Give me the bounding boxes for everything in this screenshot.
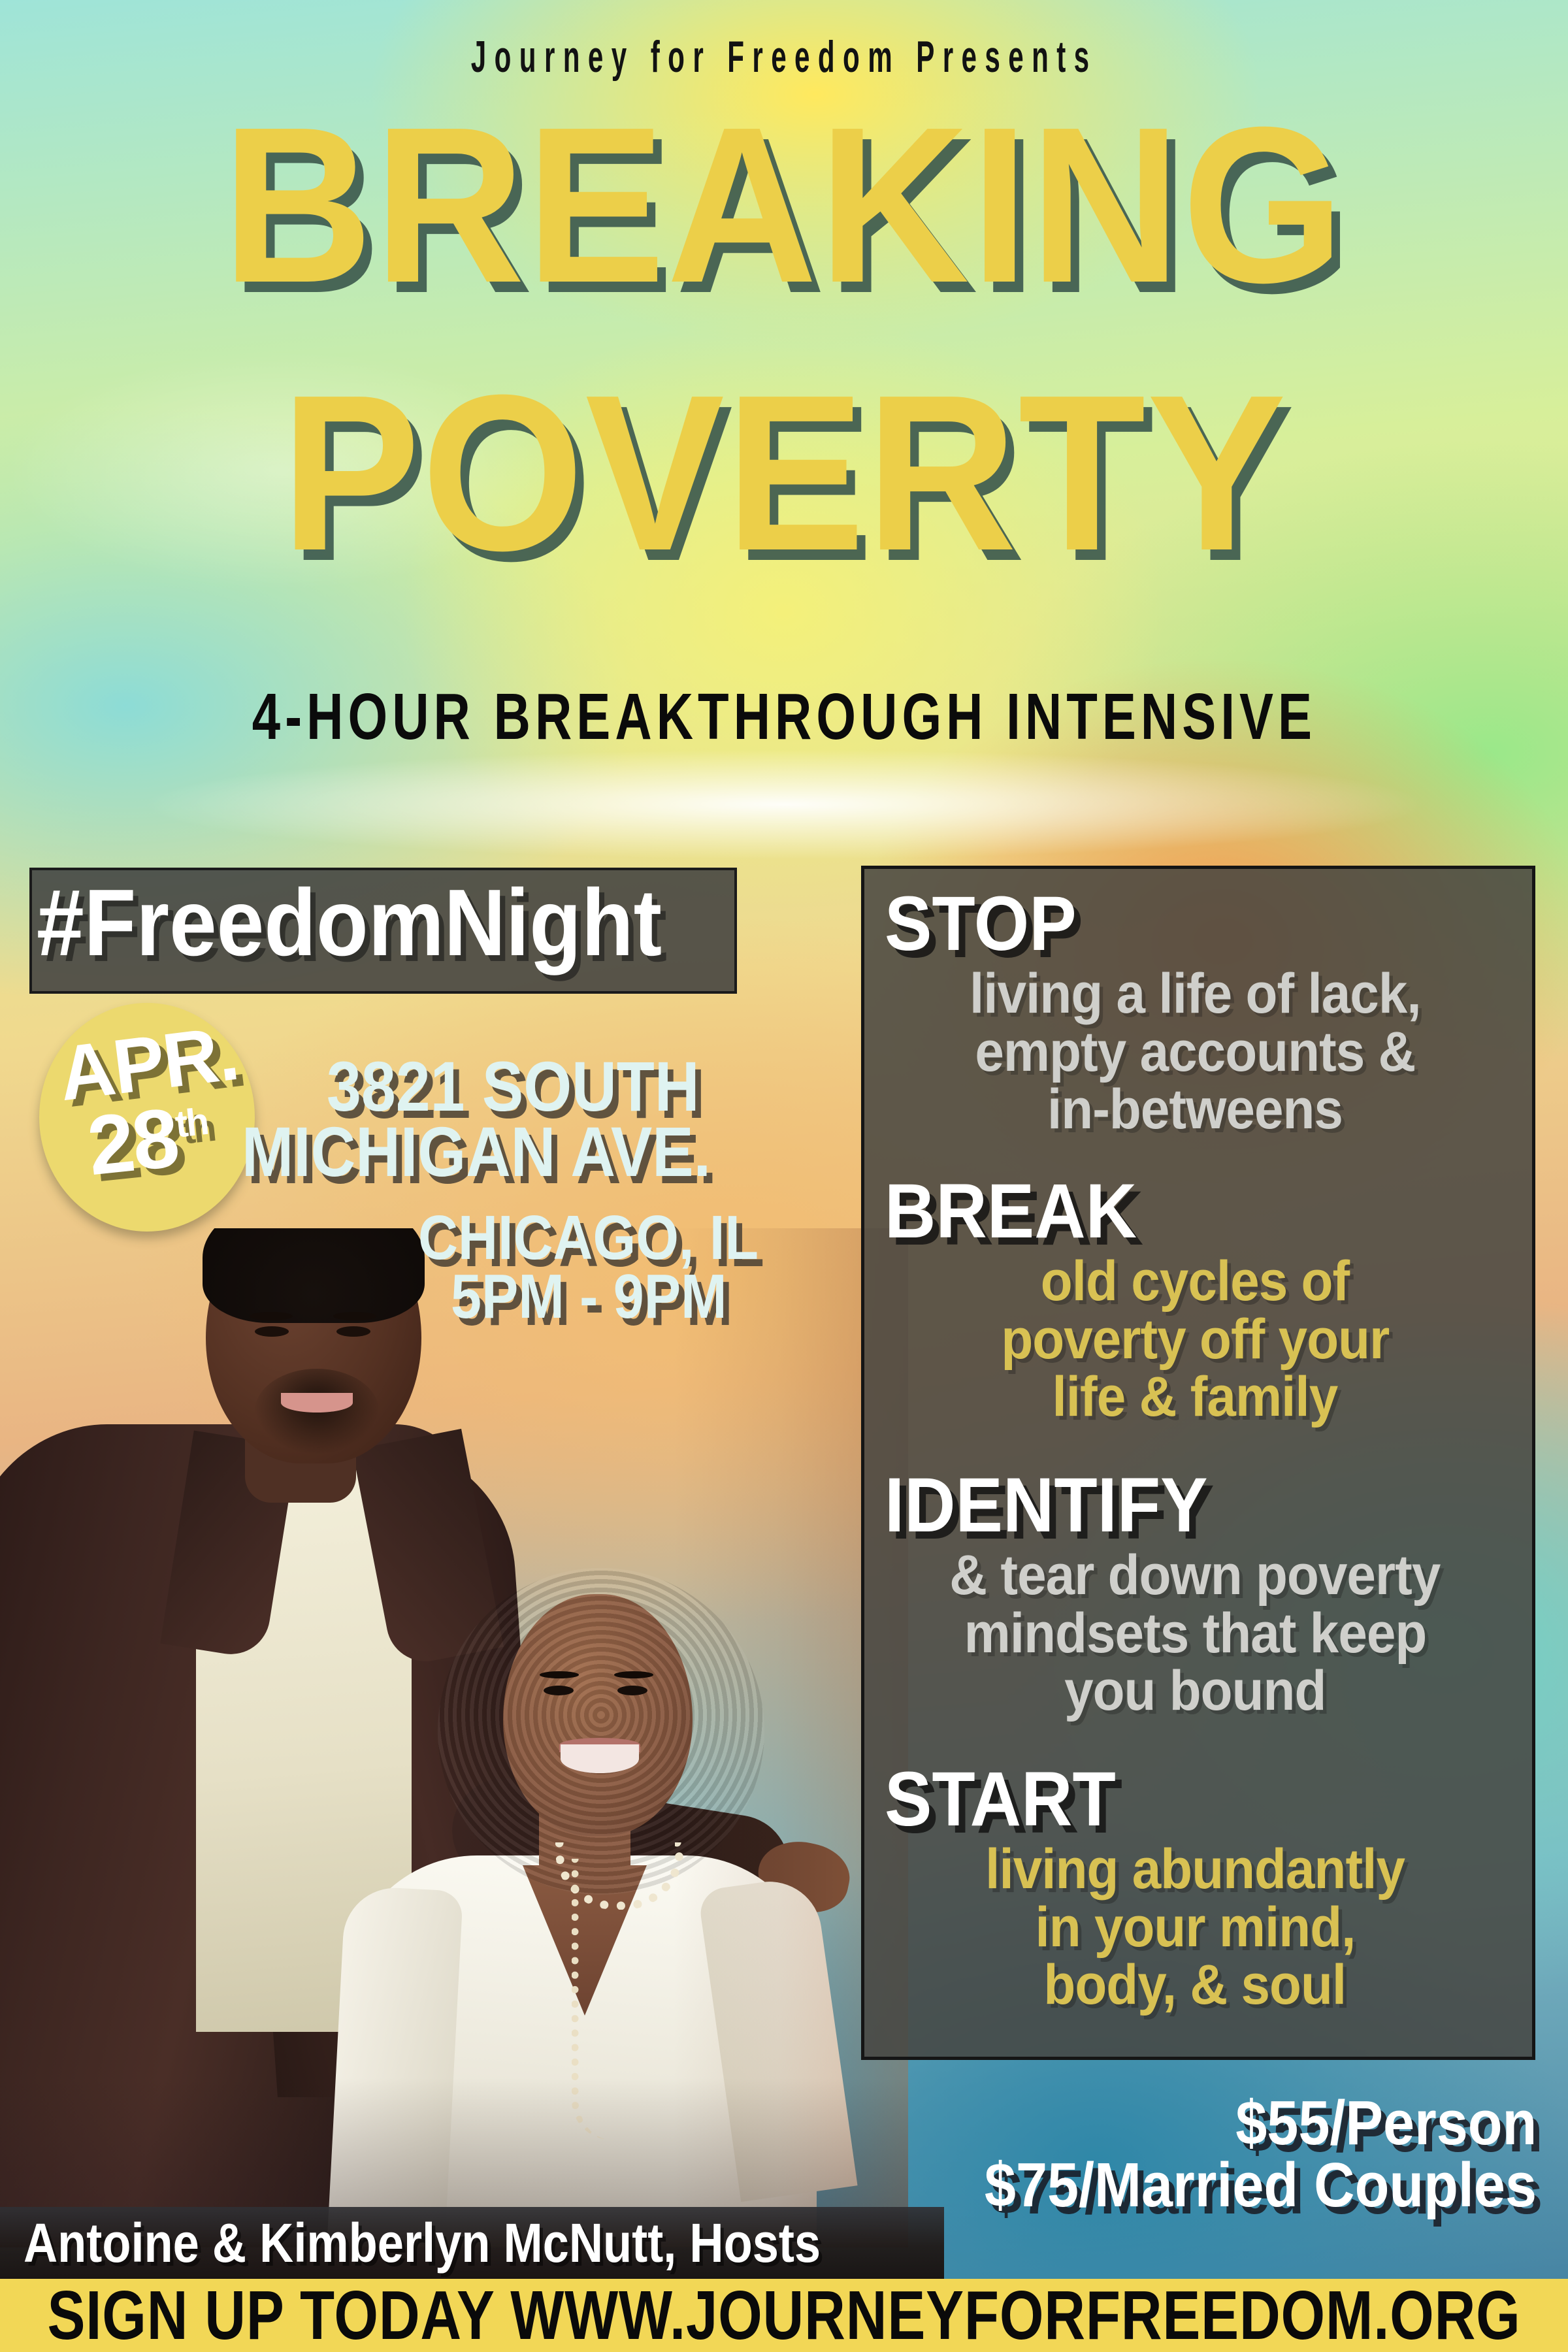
section-start-body-line-1: living abundantly (985, 1840, 1405, 1899)
section-start-heading-text: START (885, 1761, 1116, 1838)
section-identify-heading-text: IDENTIFY (885, 1467, 1208, 1544)
section-break-heading-text: BREAK (885, 1173, 1137, 1250)
section-stop-heading-text: STOP (885, 885, 1077, 962)
section-identify: IDENTIFY & tear down poverty mindsets th… (861, 1467, 1529, 1720)
section-break-heading: BREAK (861, 1173, 1529, 1250)
section-break: BREAK old cycles of poverty off your lif… (861, 1173, 1529, 1426)
price-individual-text: $55/Person (1235, 2087, 1537, 2159)
section-identify-body-line-1: & tear down poverty (949, 1546, 1440, 1605)
date-day-text: 28 (83, 1091, 182, 1193)
section-identify-body-line-2: mindsets that keep (964, 1605, 1426, 1663)
title-line-2-text: POVERTY (281, 382, 1287, 564)
event-time: 5PM - 9PM (451, 1261, 764, 1333)
section-break-body-line-1: old cycles of (1041, 1252, 1349, 1311)
section-stop-body: living a life of lack, empty accounts & … (861, 962, 1529, 1139)
price-individual: $55/Person (1202, 2087, 1537, 2159)
title-line-1: BREAKING (0, 114, 1568, 297)
event-time-text: 5PM - 9PM (451, 1261, 727, 1333)
event-flyer: Journey for Freedom Presents BREAKING PO… (0, 0, 1568, 2352)
section-identify-heading: IDENTIFY (861, 1467, 1529, 1544)
section-stop: STOP living a life of lack, empty accoun… (861, 885, 1529, 1139)
subtitle-text: 4-HOUR BREAKTHROUGH INTENSIVE (252, 679, 1316, 755)
section-start-heading: START (861, 1761, 1529, 1838)
presenter-text: Journey for Freedom Presents (471, 31, 1098, 82)
hashtag: #FreedomNight (37, 857, 739, 988)
section-stop-body-line-2: empty accounts & (975, 1023, 1415, 1081)
section-identify-body-line-3: you bound (1064, 1662, 1326, 1720)
title-line-1-text: BREAKING (222, 114, 1346, 297)
signup-cta[interactable]: SIGN UP TODAY WWW.JOURNEYFORFREEDOM.ORG (0, 2279, 1568, 2352)
date-day-suffix: th (173, 1100, 209, 1146)
hosts-label: Antoine & Kimberlyn McNutt, Hosts (24, 2212, 951, 2274)
hashtag-text: #FreedomNight (37, 868, 662, 977)
title-line-2: POVERTY (0, 382, 1568, 564)
section-break-body-line-3: life & family (1053, 1368, 1338, 1426)
address-line-2-text: MICHIGAN AVE. (242, 1111, 711, 1192)
presenter-line: Journey for Freedom Presents (0, 31, 1568, 82)
section-identify-body: & tear down poverty mindsets that keep y… (861, 1544, 1529, 1720)
host-couple-photo (0, 1228, 908, 2247)
address-line-2: MICHIGAN AVE. (242, 1111, 775, 1192)
section-stop-body-line-3: in-betweens (1047, 1081, 1343, 1139)
signup-cta-text: SIGN UP TODAY WWW.JOURNEYFORFREEDOM.ORG (47, 2276, 1520, 2352)
hosts-text: Antoine & Kimberlyn McNutt, Hosts (24, 2212, 821, 2275)
price-couple-text: $75/Married Couples (985, 2149, 1537, 2221)
section-start-body-line-2: in your mind, (1035, 1899, 1355, 1957)
subtitle: 4-HOUR BREAKTHROUGH INTENSIVE (0, 679, 1568, 755)
section-break-body: old cycles of poverty off your life & fa… (861, 1250, 1529, 1426)
section-start-body: living abundantly in your mind, body, & … (861, 1838, 1529, 2014)
price-couple: $75/Married Couples (923, 2149, 1537, 2221)
section-start-body-line-3: body, & soul (1044, 1956, 1347, 2014)
section-stop-body-line-1: living a life of lack, (970, 965, 1421, 1023)
section-start: START living abundantly in your mind, bo… (861, 1761, 1529, 2014)
section-break-body-line-2: poverty off your (1001, 1311, 1389, 1369)
section-stop-heading: STOP (861, 885, 1529, 962)
